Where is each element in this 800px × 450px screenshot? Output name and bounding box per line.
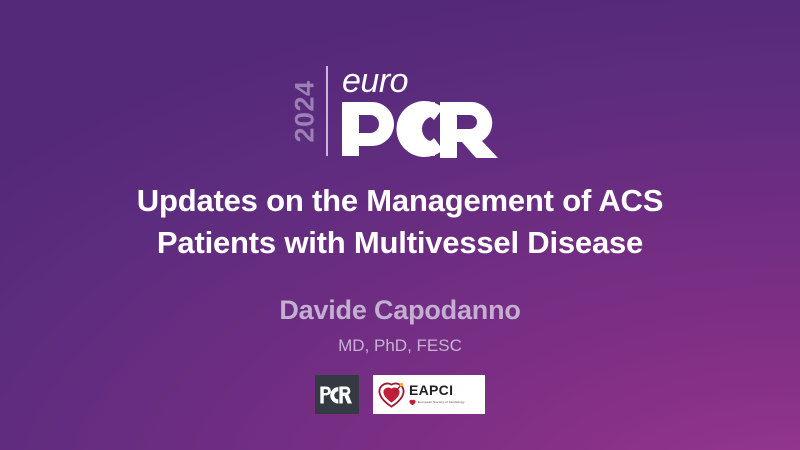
eapci-heart-icon [378,381,405,408]
footer-logo-row: EAPCI European Society of Cardiology [0,375,800,414]
pcr-logo-badge [315,375,359,414]
esc-society-label: European Society of Cardiology [418,401,465,404]
logo-year-block: 2024 [288,62,322,160]
title-line-1: Updates on the Management of ACS [30,180,770,222]
logo-year-label: 2024 [292,80,319,142]
logo-divider [326,66,328,156]
eapci-text-block: EAPCI European Society of Cardiology [409,383,465,406]
title-line-2: Patients with Multivessel Disease [30,222,770,264]
eapci-name: EAPCI [409,383,465,397]
presentation-slide: 2024 euro Updates on the Management of [0,0,800,450]
eapci-logo-badge: EAPCI European Society of Cardiology [373,375,485,414]
logo-pcr-mark [340,100,512,158]
esc-mark-icon [409,399,416,406]
author-credentials: MD, PhD, FESC [0,336,800,356]
page-title: Updates on the Management of ACS Patient… [0,180,800,263]
logo-wordmark: euro [340,62,512,160]
author-name: Davide Capodanno [0,295,800,326]
logo-euro-label: euro [340,64,408,98]
eapci-society-line: European Society of Cardiology [409,399,465,406]
pcr-icon [320,386,354,404]
europcr-logo: 2024 euro [288,62,512,160]
